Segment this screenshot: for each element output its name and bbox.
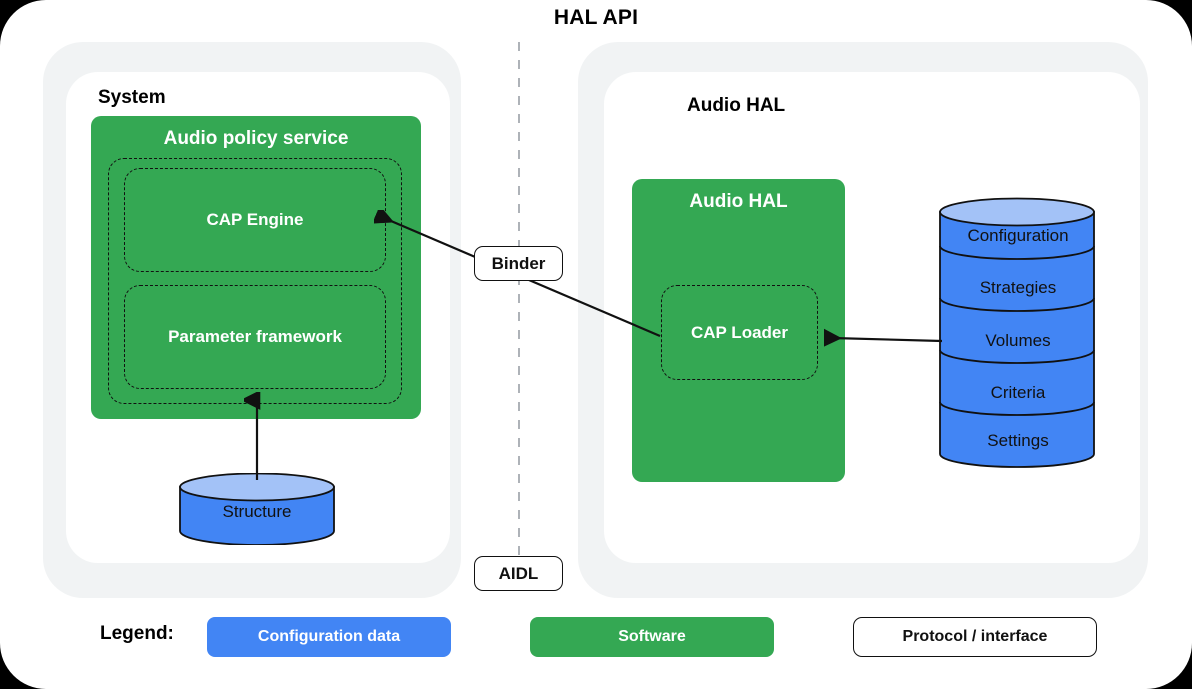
legend-item-software[interactable]: Software — [530, 617, 774, 657]
audio-policy-service-label: Audio policy service — [91, 128, 421, 150]
parameter-framework-block[interactable]: Parameter framework — [124, 285, 386, 389]
structure-datastore[interactable] — [178, 473, 336, 545]
legend-item-configuration-data[interactable]: Configuration data — [207, 617, 451, 657]
configuration-datastore[interactable] — [938, 196, 1098, 468]
diagram-title: HAL API — [0, 6, 1192, 30]
audio-hal-panel-title: Audio HAL — [687, 95, 785, 117]
arrow-datastore-to-cap-loader — [824, 326, 946, 352]
legend-item-protocol-interface-label: Protocol / interface — [903, 628, 1048, 646]
legend-item-protocol-interface[interactable]: Protocol / interface — [853, 617, 1097, 657]
system-panel-title: System — [98, 87, 166, 109]
diagram-canvas: HAL API System Audio policy service CAP … — [0, 0, 1192, 689]
cap-engine-block[interactable]: CAP Engine — [124, 168, 386, 272]
cap-loader-label: CAP Loader — [691, 323, 788, 343]
legend-label: Legend: — [100, 623, 174, 645]
parameter-framework-label: Parameter framework — [168, 327, 342, 347]
protocol-pill-binder-label: Binder — [492, 254, 546, 274]
cap-loader-block[interactable]: CAP Loader — [661, 285, 818, 380]
protocol-pill-binder[interactable]: Binder — [474, 246, 563, 281]
cap-engine-label: CAP Engine — [207, 210, 304, 230]
arrow-structure-to-parameter-framework — [244, 392, 270, 482]
legend-item-software-label: Software — [618, 628, 686, 646]
legend-item-configuration-data-label: Configuration data — [258, 628, 400, 646]
protocol-pill-aidl[interactable]: AIDL — [474, 556, 563, 591]
protocol-pill-aidl-label: AIDL — [499, 564, 539, 584]
